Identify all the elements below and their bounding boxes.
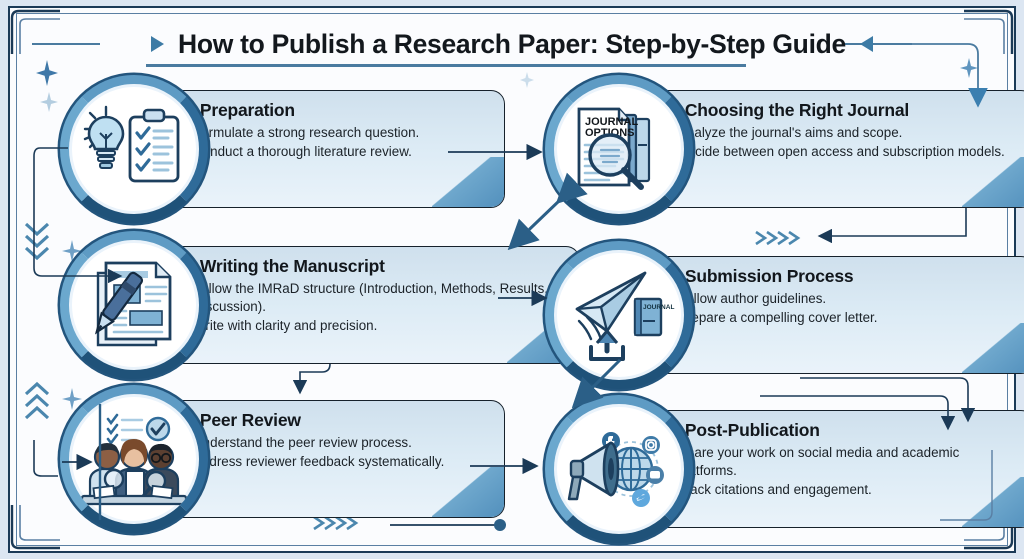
- paper-plane-upload-journal-icon: JOURNAL: [545, 241, 693, 389]
- step-bullet-list: Share your work on social media and acad…: [666, 444, 1021, 498]
- title-underline: [146, 64, 746, 67]
- list-item: Formulate a strong research question.: [181, 124, 491, 142]
- infographic-canvas: How to Publish a Research Paper: Step-by…: [0, 0, 1024, 559]
- list-item: Decide between open access and subscript…: [666, 143, 1021, 161]
- step-card-4-body: 4. Submission Process Follow author guid…: [635, 256, 1024, 374]
- lightbulb-clipboard-icon: [60, 75, 208, 223]
- journal-options-magnifier-icon: JOURNAL OPTIONS: [545, 75, 693, 223]
- step-title: 3. Writing the Manuscript: [181, 256, 566, 278]
- list-item: Address reviewer feedback systematically…: [181, 453, 491, 471]
- step-title: 6. Post-Publication: [666, 420, 1021, 442]
- megaphone-globe-social-icon: [545, 395, 693, 543]
- step-card-3-body: 3. Writing the Manuscript Follow the IMR…: [150, 246, 580, 364]
- step-card-3[interactable]: 3. Writing the Manuscript Follow the IMR…: [60, 246, 580, 364]
- list-item: Conduct a thorough literature review.: [181, 143, 491, 161]
- page-title: How to Publish a Research Paper: Step-by…: [178, 29, 846, 60]
- step-card-6[interactable]: 6. Post-Publication Share your work on s…: [545, 410, 1024, 528]
- arrow-left-icon: [860, 36, 873, 52]
- page-title-row: How to Publish a Research Paper: Step-by…: [0, 22, 1024, 66]
- step-title: 5. Peer Review: [181, 410, 491, 432]
- icon-label: JOURNAL: [643, 304, 674, 311]
- step-bullet-list: Follow author guidelines. Prepare a comp…: [666, 290, 1021, 327]
- list-item: Understand the peer review process.: [181, 434, 491, 452]
- step-card-5[interactable]: 5. Peer Review Understand the peer revie…: [60, 400, 480, 518]
- list-item: Follow the IMRaD structure (Introduction…: [181, 280, 566, 316]
- step-title: 1. Preparation: [181, 100, 491, 122]
- list-item: Write with clarity and precision.: [181, 317, 566, 335]
- step-card-2-body: 2. Choosing the Right Journal Analyze th…: [635, 90, 1024, 208]
- list-item: Analyze the journal's aims and scope.: [666, 124, 1021, 142]
- step-title: 2. Choosing the Right Journal: [666, 100, 1021, 122]
- step-card-1[interactable]: 1. Preparation Formulate a strong resear…: [60, 90, 480, 208]
- step-bullet-list: Analyze the journal's aims and scope. De…: [666, 124, 1021, 161]
- step-title: 4. Submission Process: [666, 266, 1021, 288]
- step-card-6-body: 6. Post-Publication Share your work on s…: [635, 410, 1024, 528]
- step-card-4[interactable]: 4. Submission Process Follow author guid…: [545, 256, 1024, 374]
- step-bullet-list: Understand the peer review process. Addr…: [181, 434, 491, 471]
- arrow-right-icon: [151, 36, 164, 52]
- step-card-2[interactable]: 2. Choosing the Right Journal Analyze th…: [545, 90, 1024, 208]
- list-item: Share your work on social media and acad…: [666, 444, 1021, 480]
- list-item: Follow author guidelines.: [666, 290, 1021, 308]
- list-item: Prepare a compelling cover letter.: [666, 309, 1021, 327]
- document-pen-icon: [60, 231, 208, 379]
- list-item: Track citations and engagement.: [666, 481, 1021, 499]
- step-bullet-list: Formulate a strong research question. Co…: [181, 124, 491, 161]
- reviewers-panel-icon: [60, 385, 208, 533]
- step-bullet-list: Follow the IMRaD structure (Introduction…: [181, 280, 566, 334]
